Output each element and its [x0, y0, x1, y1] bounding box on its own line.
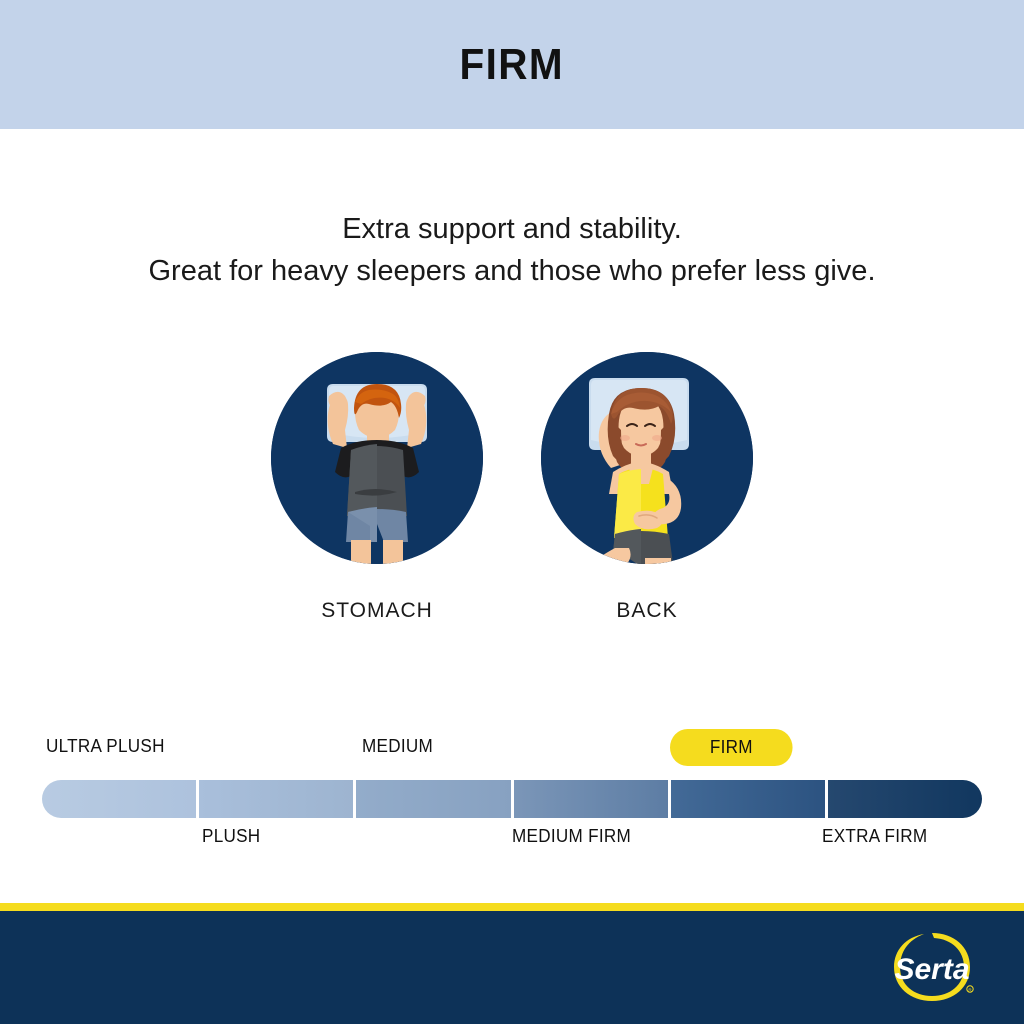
firmness-scale: ULTRA PLUSH MEDIUM FIRM PLUSH MEDIUM FIR… — [42, 736, 982, 861]
firmness-label-plush[interactable]: PLUSH — [202, 826, 260, 847]
firmness-label-ultra-plush[interactable]: ULTRA PLUSH — [46, 736, 165, 757]
subtitle-line-2: Great for heavy sleepers and those who p… — [0, 250, 1024, 292]
header-band: FIRM — [0, 0, 1024, 129]
sleep-position-label-stomach: STOMACH — [321, 599, 433, 623]
firmness-segment-medium-firm[interactable] — [514, 780, 671, 818]
firmness-segment-extra-firm[interactable] — [828, 780, 982, 818]
firmness-scale-labels-bottom: PLUSH MEDIUM FIRM EXTRA FIRM — [42, 826, 982, 856]
firmness-segment-plush[interactable] — [199, 780, 356, 818]
firmness-segment-ultra-plush[interactable] — [42, 780, 199, 818]
firmness-label-medium-firm[interactable]: MEDIUM FIRM — [512, 826, 631, 847]
firmness-label-extra-firm[interactable]: EXTRA FIRM — [822, 826, 927, 847]
firmness-segment-firm[interactable] — [671, 780, 828, 818]
firmness-scale-bar[interactable] — [42, 780, 982, 818]
firmness-label-firm-selected[interactable]: FIRM — [670, 729, 793, 766]
sleep-position-stomach: STOMACH — [271, 352, 483, 623]
footer-accent-stripe — [0, 903, 1024, 911]
firmness-label-medium[interactable]: MEDIUM — [362, 736, 433, 757]
page-title: FIRM — [460, 40, 564, 90]
sleep-position-label-back: BACK — [616, 599, 677, 623]
footer-band — [0, 911, 1024, 1024]
sleep-position-group: STOMACH — [0, 352, 1024, 623]
stomach-sleeper-icon — [271, 352, 483, 564]
back-sleeper-icon — [541, 352, 753, 564]
sleep-position-back: BACK — [541, 352, 753, 623]
serta-logo-text: Serta — [894, 953, 969, 986]
subtitle-line-1: Extra support and stability. — [0, 208, 1024, 250]
firmness-scale-labels-top: ULTRA PLUSH MEDIUM FIRM — [42, 736, 982, 766]
serta-logo: Serta R — [884, 927, 980, 1007]
firmness-segment-medium[interactable] — [356, 780, 513, 818]
subtitle-text: Extra support and stability. Great for h… — [0, 208, 1024, 292]
